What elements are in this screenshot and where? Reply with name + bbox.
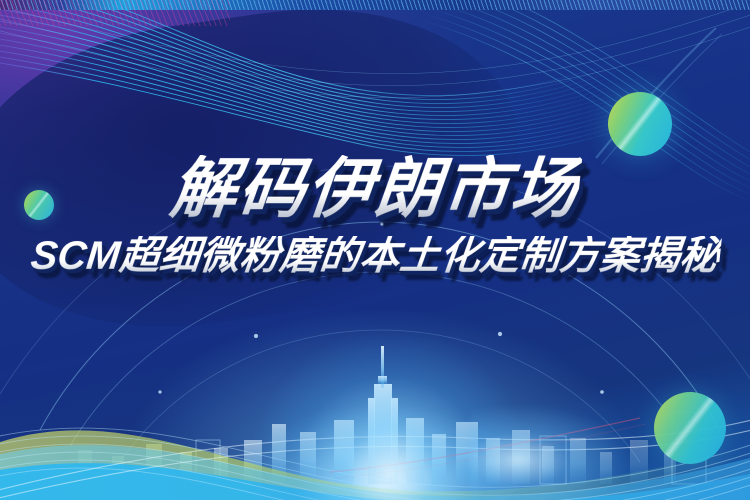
magenta-dot-pattern <box>0 0 230 26</box>
secondary-glow <box>470 400 640 500</box>
gradient-sphere-bottom <box>654 392 726 464</box>
promo-banner: 解码伊朗市场 SCM超细微粉磨的本土化定制方案揭秘 <box>0 0 750 500</box>
gradient-sphere-main <box>608 92 672 156</box>
sphere-glint-icon <box>654 392 726 464</box>
sphere-glint-icon <box>608 92 672 156</box>
banner-title: 解码伊朗市场 <box>167 155 582 222</box>
headline-block: 解码伊朗市场 SCM超细微粉磨的本土化定制方案揭秘 <box>0 155 750 276</box>
banner-subtitle: SCM超细微粉磨的本土化定制方案揭秘 <box>28 236 721 276</box>
